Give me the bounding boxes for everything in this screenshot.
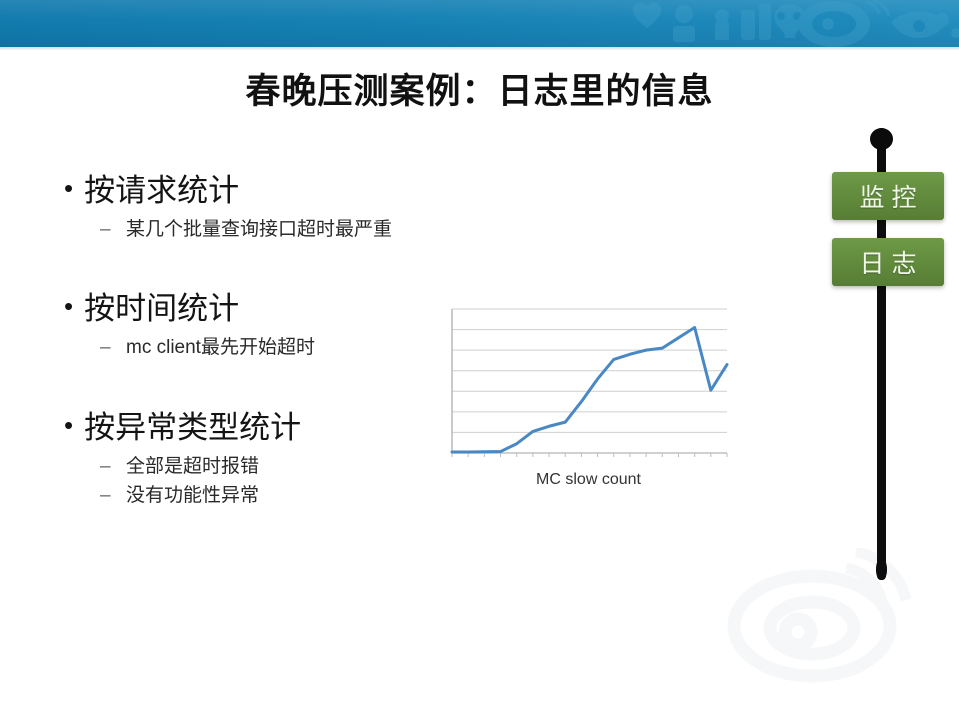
sticky-tag-logs[interactable]: 日志 [832,238,944,286]
sub-bullet-label-1-0: mc client最先开始超时 [126,334,315,363]
sub-bullet-item-1-0: – mc client最先开始超时 [100,334,484,363]
sub-bullet-item-2-0: – 全部是超时报错 [100,453,484,482]
bullet-group-1: • 按时间统计 – mc client最先开始超时 [64,288,484,362]
sub-bullet-item-2-1: – 没有功能性异常 [100,482,484,511]
bullet-label-0: 按请求统计 [84,170,239,212]
sub-bullet-dash-icon: – [100,334,126,363]
sub-bullet-label-2-0: 全部是超时报错 [126,453,259,482]
bullet-dot-icon: • [64,288,73,326]
pushpin-with-tags: 监控 日志 [826,128,952,580]
chart-plot-area [446,303,731,465]
bullet-group-0: • 按请求统计 – 某几个批量查询接口超时最严重 [64,170,484,244]
pushpin-head-icon [870,128,893,150]
weibo-doodle-pattern-icon [629,0,959,47]
bullet-label-1: 按时间统计 [84,288,239,330]
bullet-dot-icon: • [64,407,73,445]
chart-x-ticks [452,453,727,457]
sub-bullet-dash-icon: – [100,453,126,482]
chart-caption: MC slow count [446,471,731,489]
mc-slow-count-chart: MC slow count [446,303,731,498]
sub-bullet-dash-icon: – [100,216,126,245]
chart-gridlines [452,309,727,432]
bullet-item-1: • 按时间统计 [64,288,484,330]
bullet-label-2: 按异常类型统计 [84,407,301,449]
bullet-group-2: • 按异常类型统计 – 全部是超时报错 – 没有功能性异常 [64,407,484,511]
sticky-tag-label-0: 监控 [852,178,923,214]
page-title: 春晚压测案例：日志里的信息 [0,70,959,114]
bullet-item-2: • 按异常类型统计 [64,407,484,449]
slide-canvas: 春晚压测案例：日志里的信息 • 按请求统计 – 某几个批量查询接口超时最严重 •… [0,0,959,720]
bullet-list: • 按请求统计 – 某几个批量查询接口超时最严重 • 按时间统计 – mc cl… [64,170,484,525]
bullet-dot-icon: • [64,170,73,208]
sticky-tag-monitoring[interactable]: 监控 [832,172,944,220]
sub-bullet-dash-icon: – [100,482,126,511]
chart-data-line [452,328,727,452]
sticky-tag-label-1: 日志 [852,244,923,280]
top-banner [0,0,959,47]
top-banner-edge [0,47,959,50]
pushpin-tip-icon [876,558,887,580]
sub-bullet-label-2-1: 没有功能性异常 [126,482,259,511]
sub-bullet-item-0-0: – 某几个批量查询接口超时最严重 [100,216,484,245]
bullet-item-0: • 按请求统计 [64,170,484,212]
sub-bullet-label-0-0: 某几个批量查询接口超时最严重 [126,216,392,245]
